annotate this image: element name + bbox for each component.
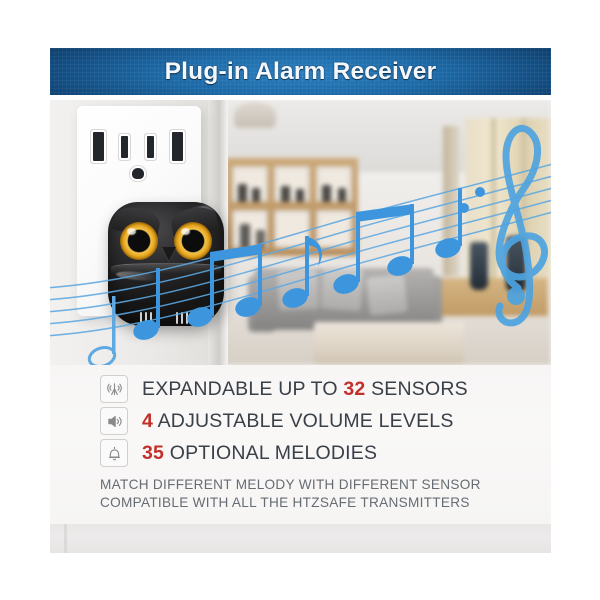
feature-row-volume: 4 ADJUSTABLE VOLUME LEVELS [100,407,454,435]
bell-icon [100,439,128,467]
shelf-object [238,184,247,202]
outlet-slot-inner-left [121,136,128,158]
owl-foot-right [176,311,190,324]
shelf-cell [316,210,352,248]
owl-eye-right [174,222,212,260]
feature-text-sensors: EXPANDABLE UP TO 32 SENSORS [142,378,468,401]
outlet-ground-hole [132,168,144,179]
door-frame [443,126,459,276]
owl-eye-highlight [181,228,190,235]
cushion [321,267,364,312]
outlet-slot-inner-right [147,136,154,158]
wooden-console [438,278,548,316]
owl-beak [162,247,176,261]
wooden-shelf-unit [226,158,358,256]
shelf-object [338,188,346,202]
shelf-object [322,185,331,202]
shelf-object [296,189,304,202]
owl-alarm-receiver [108,202,224,326]
owl-eye-left [120,222,158,260]
feature-text-melodies: 35 OPTIONAL MELODIES [142,442,377,465]
subline-match-melody: MATCH DIFFERENT MELODY WITH DIFFERENT SE… [100,477,481,492]
header-banner: Plug-in Alarm Receiver [50,48,551,95]
outlet-slot-left [93,132,104,161]
feature-text-volume: 4 ADJUSTABLE VOLUME LEVELS [142,410,454,433]
room-background [218,100,551,365]
feature-list-panel: EXPANDABLE UP TO 32 SENSORS 4 ADJUSTABLE… [50,365,551,524]
cushion [277,269,319,311]
vase [506,236,526,292]
shelf-object [281,186,290,202]
shelf-object [252,188,260,202]
footer-band [50,524,551,553]
footer-tick [64,524,67,553]
page-title: Plug-in Alarm Receiver [50,58,551,86]
window-mullion [491,118,496,278]
shelf-cell [274,166,310,202]
cushion [366,274,408,316]
pendant-lamp [234,102,276,128]
feature-row-melodies: 35 OPTIONAL MELODIES [100,439,377,467]
wall-outlet-plate [77,106,201,316]
shelf-object [256,230,265,248]
subline-compatible: COMPATIBLE WITH ALL THE HTZSAFE TRANSMIT… [100,495,470,510]
signal-antenna-icon [100,375,128,403]
owl-foot-left [140,311,154,324]
feature-row-sensors: EXPANDABLE UP TO 32 SENSORS [100,375,468,403]
owl-eye-highlight [127,228,136,235]
product-photo [50,100,551,365]
product-poster: Plug-in Alarm Receiver [0,0,600,600]
shelf-object [240,224,250,248]
shelf-cell [274,210,310,248]
coffee-table [314,322,464,365]
speaker-volume-icon [100,407,128,435]
outlet-slot-right [172,132,183,161]
vase [470,242,488,290]
